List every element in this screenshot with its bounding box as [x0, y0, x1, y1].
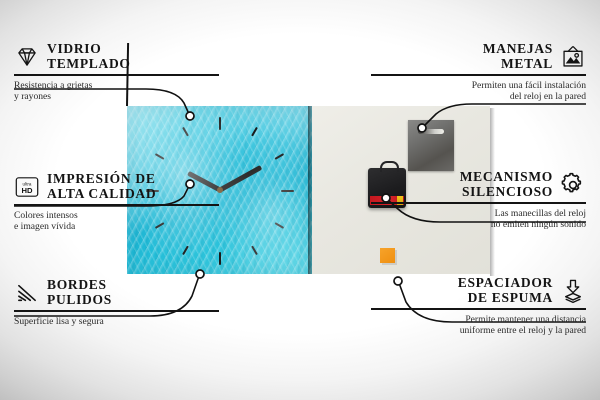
feature-header: ultra HD IMPRESIÓN DE ALTA CALIDAD	[14, 172, 229, 201]
foam-spacer	[380, 248, 395, 263]
feature-subtitle: Permiten una fácil instalación del reloj…	[371, 80, 586, 103]
feature-title: BORDES PULIDOS	[47, 278, 112, 307]
clock-tick	[182, 246, 189, 256]
hanger-plate	[408, 120, 454, 171]
feature-bordes-pulidos: BORDES PULIDOS Superficie lisa y segura	[14, 278, 229, 327]
polished-edges-icon	[14, 280, 40, 306]
feature-subtitle: Permite mantener una distancia uniforme …	[371, 314, 586, 337]
clock-tick	[219, 252, 221, 265]
feature-impresion-alta-calidad: ultra HD IMPRESIÓN DE ALTA CALIDAD Color…	[14, 172, 229, 233]
gear-icon	[560, 172, 586, 198]
feature-divider	[371, 74, 586, 76]
feature-divider	[14, 310, 219, 312]
hanger-slot	[418, 129, 444, 134]
feature-divider	[371, 202, 586, 204]
arrow-down-layers-icon	[560, 278, 586, 304]
diamond-icon	[14, 44, 40, 70]
clock-tick	[155, 153, 165, 160]
feature-title: IMPRESIÓN DE ALTA CALIDAD	[47, 172, 156, 201]
feature-title: VIDRIO TEMPLADO	[47, 42, 131, 71]
clock-tick	[274, 222, 284, 229]
feature-divider	[14, 204, 219, 206]
feature-vidrio-templado: VIDRIO TEMPLADO Resistencia a grietas y …	[14, 42, 229, 103]
feature-mecanismo-silencioso: MECANISMO SILENCIOSO Las manecillas del …	[371, 170, 586, 231]
clock-tick	[281, 190, 294, 192]
clock-tick	[251, 246, 258, 256]
feature-header: VIDRIO TEMPLADO	[14, 42, 229, 71]
clock-tick	[182, 126, 189, 136]
svg-text:HD: HD	[21, 186, 33, 195]
ultra-hd-badge-icon: ultra HD	[14, 174, 40, 200]
clock-tick	[251, 126, 258, 136]
feature-header: MECANISMO SILENCIOSO	[371, 170, 586, 199]
infographic-canvas: VIDRIO TEMPLADO Resistencia a grietas y …	[0, 0, 600, 400]
feature-subtitle: Colores intensos e imagen vívida	[14, 210, 229, 233]
feature-header: ESPACIADOR DE ESPUMA	[371, 276, 586, 305]
framed-picture-hanging-icon	[560, 44, 586, 70]
clock-tick	[274, 153, 284, 160]
clock-tick	[219, 117, 221, 130]
feature-title: MANEJAS METAL	[483, 42, 553, 71]
feature-subtitle: Las manecillas del reloj no emiten ningú…	[371, 208, 586, 231]
feature-divider	[14, 74, 219, 76]
feature-divider	[371, 308, 586, 310]
feature-title: MECANISMO SILENCIOSO	[460, 170, 553, 199]
feature-subtitle: Resistencia a grietas y rayones	[14, 80, 229, 103]
feature-espaciador-espuma: ESPACIADOR DE ESPUMA Permite mantener un…	[371, 276, 586, 337]
feature-subtitle: Superficie lisa y segura	[14, 316, 229, 328]
feature-header: MANEJAS METAL	[371, 42, 586, 71]
feature-header: BORDES PULIDOS	[14, 278, 229, 307]
feature-title: ESPACIADOR DE ESPUMA	[458, 276, 553, 305]
feature-manejas-metal: MANEJAS METAL Permiten una fácil instala…	[371, 42, 586, 103]
